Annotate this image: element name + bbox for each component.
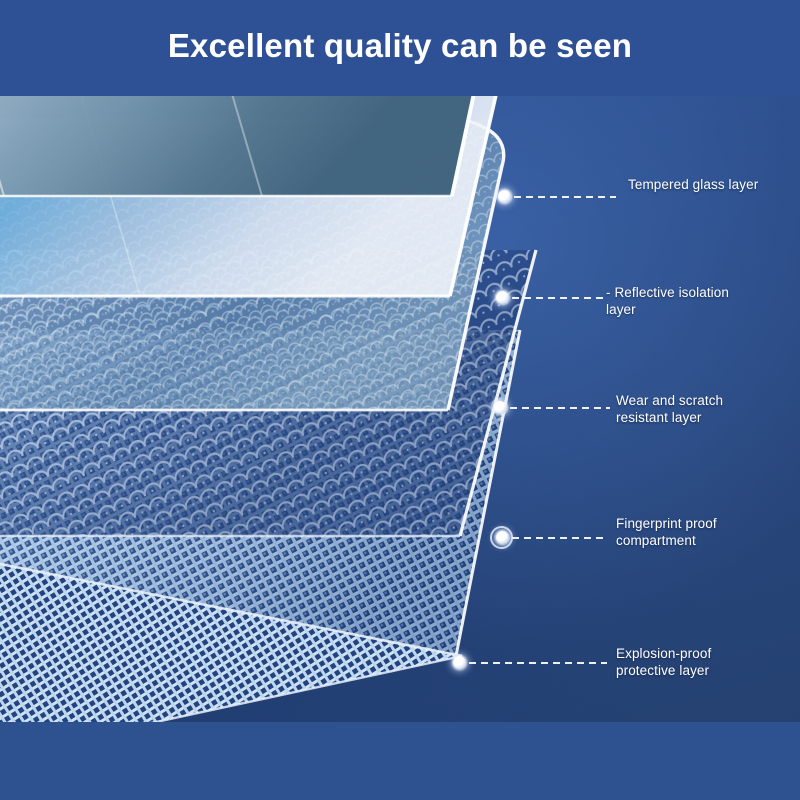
layer-4-label: Fingerprint proof compartment: [616, 515, 717, 549]
infographic-canvas: Tempered glass layer - Reflective isolat…: [0, 0, 800, 800]
layer-2-label: - Reflective isolation layer: [606, 284, 729, 318]
layer-1-label: Tempered glass layer: [628, 176, 758, 193]
layer-3-label: Wear and scratch resistant layer: [616, 392, 723, 426]
layer-2-marker-dot[interactable]: [496, 291, 509, 304]
layer-1-marker-dot[interactable]: [498, 190, 511, 203]
footer-band: [0, 722, 800, 800]
layer-5-leader-line: [469, 662, 607, 664]
layer-2-leader-line: [512, 297, 604, 299]
layer-5-label: Explosion-proof protective layer: [616, 645, 711, 679]
layer-5-marker-dot[interactable]: [453, 656, 466, 669]
layer-4-leader-line: [512, 537, 604, 539]
layer-3-marker-dot[interactable]: [494, 401, 507, 414]
layer-3-leader-line: [510, 407, 610, 409]
layer-1-leader-line: [514, 196, 616, 198]
page-title: Excellent quality can be seen: [0, 27, 800, 65]
layer-4-marker-dot[interactable]: [496, 531, 509, 544]
